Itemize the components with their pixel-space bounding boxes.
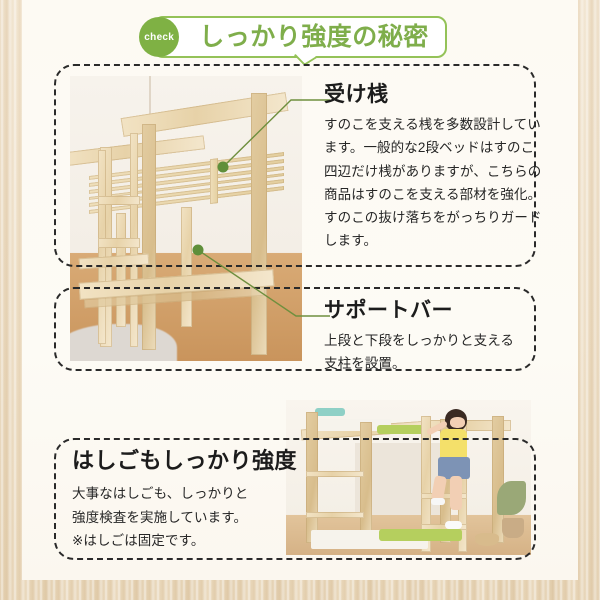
body-support-bar: 上段と下段をしっかりと支える 支柱を設置。 [324,329,534,375]
page-header: check しっかり強度の秘密 [0,14,600,60]
body-line: 支柱を設置。 [324,352,534,375]
body-line: すのこを支える桟を多数設計してい [324,113,542,136]
heading-uke-zan: 受け桟 [324,82,542,107]
body-line: ※はしごは固定です。 [72,529,304,552]
body-uke-zan: すのこを支える桟を多数設計してい ます。一般的な2段ベッドはすのこ 四辺だけ桟が… [324,113,542,252]
top-pillow [315,408,344,416]
body-line: します。 [324,229,542,252]
body-line: 上段と下段をしっかりと支える [324,329,534,352]
text-block-uke-zan: 受け桟 すのこを支える桟を多数設計してい ます。一般的な2段ベッドはすのこ 四辺… [324,82,542,253]
heading-support-bar: サポートバー [324,298,534,323]
page-title: しっかり強度の秘密 [199,25,429,50]
body-line: 四辺だけ桟がありますが、こちらの [324,160,542,183]
body-line: ます。一般的な2段ベッドはすのこ [324,136,542,159]
text-block-support-bar: サポートバー 上段と下段をしっかりと支える 支柱を設置。 [324,298,534,376]
check-badge-icon: check [139,17,179,57]
text-block-hashigo: はしごもしっかり強度 大事なはしごも、しっかりと 強度検査を実施しています。 ※… [72,448,304,552]
body-line: 商品はすのこを支える部材を強化。 [324,183,542,206]
body-line: すのこの抜け落ちをがっちりガード [324,206,542,229]
heading-hashigo: はしごもしっかり強度 [72,448,304,474]
child-face [450,417,465,428]
body-hashigo: 大事なはしごも、しっかりと 強度検査を実施しています。 ※はしごは固定です。 [72,482,304,552]
body-line: 大事なはしごも、しっかりと [72,482,304,505]
body-line: 強度検査を実施しています。 [72,506,304,529]
header-bubble: check しっかり強度の秘密 [153,16,447,58]
